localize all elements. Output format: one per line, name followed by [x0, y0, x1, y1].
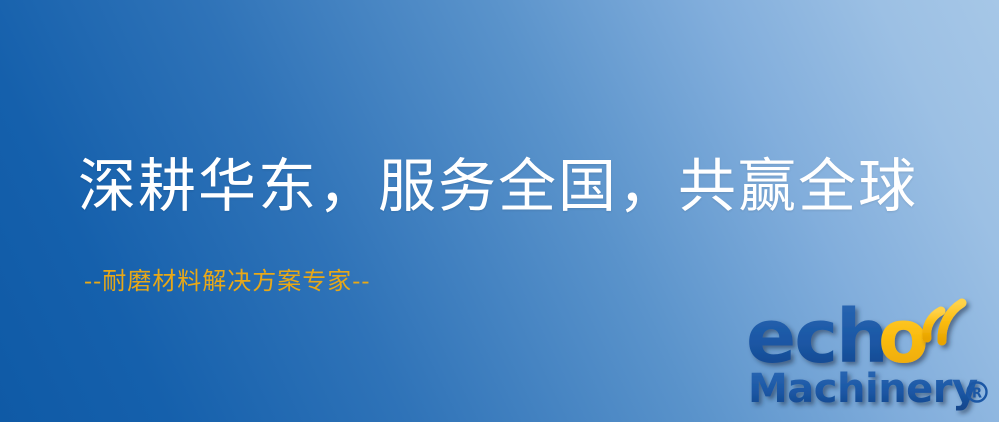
echo-wave-arcs-icon	[927, 303, 962, 341]
hero-banner: 深耕华东，服务全国，共赢全球 --耐磨材料解决方案专家--	[0, 0, 999, 422]
logo-machinery-text: Machinery	[748, 366, 978, 412]
svg-text:Machinery: Machinery	[748, 366, 978, 412]
echo-machinery-logo[interactable]: ech o Machinery R	[744, 296, 996, 418]
page-subtitle: --耐磨材料解决方案专家--	[84, 266, 370, 296]
page-title: 深耕华东，服务全国，共赢全球	[78, 150, 918, 222]
svg-text:R: R	[972, 387, 982, 402]
